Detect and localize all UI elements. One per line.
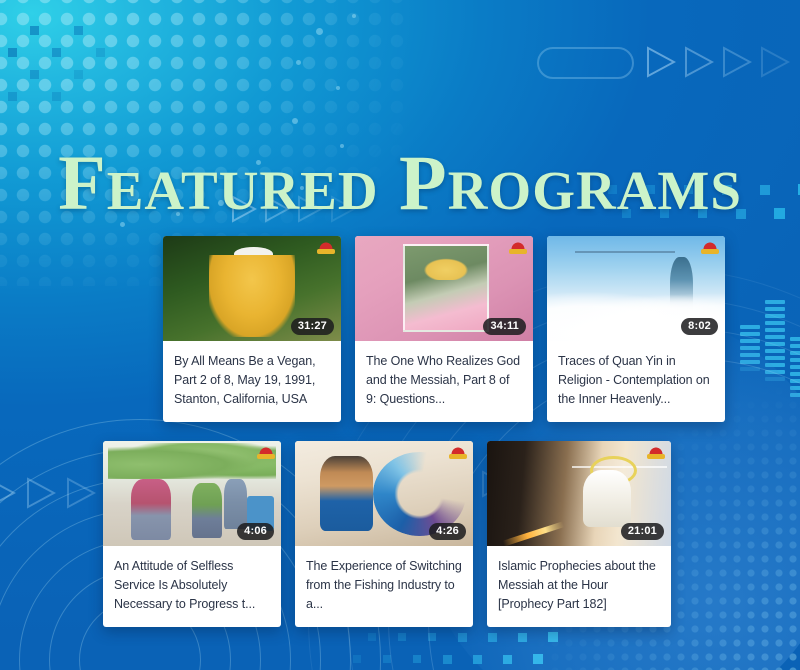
- thumbnail-detail: [583, 470, 631, 527]
- thumbnail-detail: [108, 443, 275, 479]
- eq-column: [790, 337, 800, 397]
- featured-programs-banner: Featured Programs 31:27 By All Means Be …: [0, 0, 800, 670]
- logo-base: [449, 454, 467, 459]
- duration-badge: 34:11: [483, 318, 526, 335]
- program-thumbnail[interactable]: 31:27: [163, 236, 341, 341]
- rounded-pill-outline-icon: [537, 47, 634, 79]
- logo-flower: [703, 240, 717, 249]
- program-title[interactable]: The One Who Realizes God and the Messiah…: [355, 341, 533, 422]
- logo-flower: [259, 445, 273, 454]
- thumbnail-detail: [192, 483, 222, 538]
- thumbnail-detail: [403, 244, 489, 332]
- program-row-bottom: 4:06 An Attitude of Selfless Service Is …: [103, 441, 671, 627]
- thumbnail-detail: [575, 251, 675, 253]
- thumbnail-detail: [320, 456, 373, 532]
- logo-flower: [319, 240, 333, 249]
- program-title[interactable]: The Experience of Switching from the Fis…: [295, 546, 473, 627]
- channel-logo-icon: [316, 240, 336, 256]
- duration-badge: 21:01: [621, 523, 664, 540]
- duration-badge: 4:06: [237, 523, 274, 540]
- program-card[interactable]: 21:01 Islamic Prophecies about the Messi…: [487, 441, 671, 627]
- thumbnail-detail: [502, 522, 563, 546]
- duration-badge: 8:02: [681, 318, 718, 335]
- equalizer-bars-icon: [740, 300, 800, 397]
- logo-base: [701, 249, 719, 254]
- program-card[interactable]: 4:26 The Experience of Switching from th…: [295, 441, 473, 627]
- program-title[interactable]: Traces of Quan Yin in Religion - Contemp…: [547, 341, 725, 422]
- program-card[interactable]: 4:06 An Attitude of Selfless Service Is …: [103, 441, 281, 627]
- program-title[interactable]: An Attitude of Selfless Service Is Absol…: [103, 546, 281, 627]
- eq-column: [740, 325, 760, 397]
- program-thumbnail[interactable]: 4:06: [103, 441, 281, 546]
- eq-column: [765, 300, 785, 397]
- logo-flower: [451, 445, 465, 454]
- program-card[interactable]: 31:27 By All Means Be a Vegan, Part 2 of…: [163, 236, 341, 422]
- channel-logo-icon: [256, 445, 276, 461]
- thumbnail-detail: [224, 479, 247, 529]
- program-title[interactable]: By All Means Be a Vegan, Part 2 of 8, Ma…: [163, 341, 341, 422]
- logo-flower: [511, 240, 525, 249]
- channel-logo-icon: [646, 445, 666, 461]
- duration-badge: 31:27: [291, 318, 334, 335]
- program-thumbnail[interactable]: 4:26: [295, 441, 473, 546]
- channel-logo-icon: [448, 445, 468, 461]
- program-card[interactable]: 8:02 Traces of Quan Yin in Religion - Co…: [547, 236, 725, 422]
- logo-base: [317, 249, 335, 254]
- page-title: Featured Programs: [0, 144, 800, 222]
- thumbnail-detail: [131, 479, 170, 540]
- program-card[interactable]: 34:11 The One Who Realizes God and the M…: [355, 236, 533, 422]
- square-dots-corner-icon: [0, 0, 160, 150]
- program-thumbnail[interactable]: 21:01: [487, 441, 671, 546]
- program-thumbnail[interactable]: 34:11: [355, 236, 533, 341]
- logo-flower: [649, 445, 663, 454]
- channel-logo-icon: [508, 240, 528, 256]
- logo-base: [647, 454, 665, 459]
- thumbnail-detail: [234, 247, 273, 261]
- program-row-top: 31:27 By All Means Be a Vegan, Part 2 of…: [163, 236, 725, 422]
- logo-base: [257, 454, 275, 459]
- program-title[interactable]: Islamic Prophecies about the Messiah at …: [487, 546, 671, 627]
- program-thumbnail[interactable]: 8:02: [547, 236, 725, 341]
- duration-badge: 4:26: [429, 523, 466, 540]
- channel-logo-icon: [700, 240, 720, 256]
- logo-base: [509, 249, 527, 254]
